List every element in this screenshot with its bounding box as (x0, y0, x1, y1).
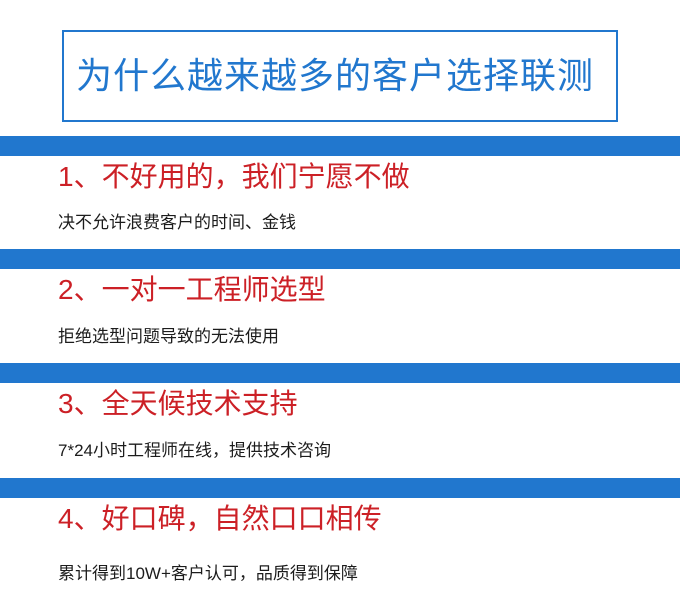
feature-heading-3: 3、全天候技术支持 (58, 390, 298, 418)
feature-heading-4: 4、好口碑，自然口口相传 (58, 505, 382, 533)
feature-heading-2: 2、一对一工程师选型 (58, 276, 326, 304)
feature-subtitle-3: 7*24小时工程师在线，提供技术咨询 (58, 442, 331, 459)
feature-subtitle-2: 拒绝选型问题导致的无法使用 (58, 328, 279, 345)
promo-banner: 为什么越来越多的客户选择联测 1、不好用的，我们宁愿不做 决不允许浪费客户的时间… (0, 0, 680, 598)
section-divider-4 (0, 478, 680, 498)
section-divider-1 (0, 136, 680, 156)
section-divider-2 (0, 249, 680, 269)
feature-heading-1: 1、不好用的，我们宁愿不做 (58, 163, 410, 191)
section-divider-3 (0, 363, 680, 383)
page-title-box: 为什么越来越多的客户选择联测 (62, 30, 618, 122)
page-title: 为什么越来越多的客户选择联测 (64, 58, 594, 94)
feature-subtitle-1: 决不允许浪费客户的时间、金钱 (58, 214, 296, 231)
feature-subtitle-4: 累计得到10W+客户认可，品质得到保障 (58, 565, 358, 582)
